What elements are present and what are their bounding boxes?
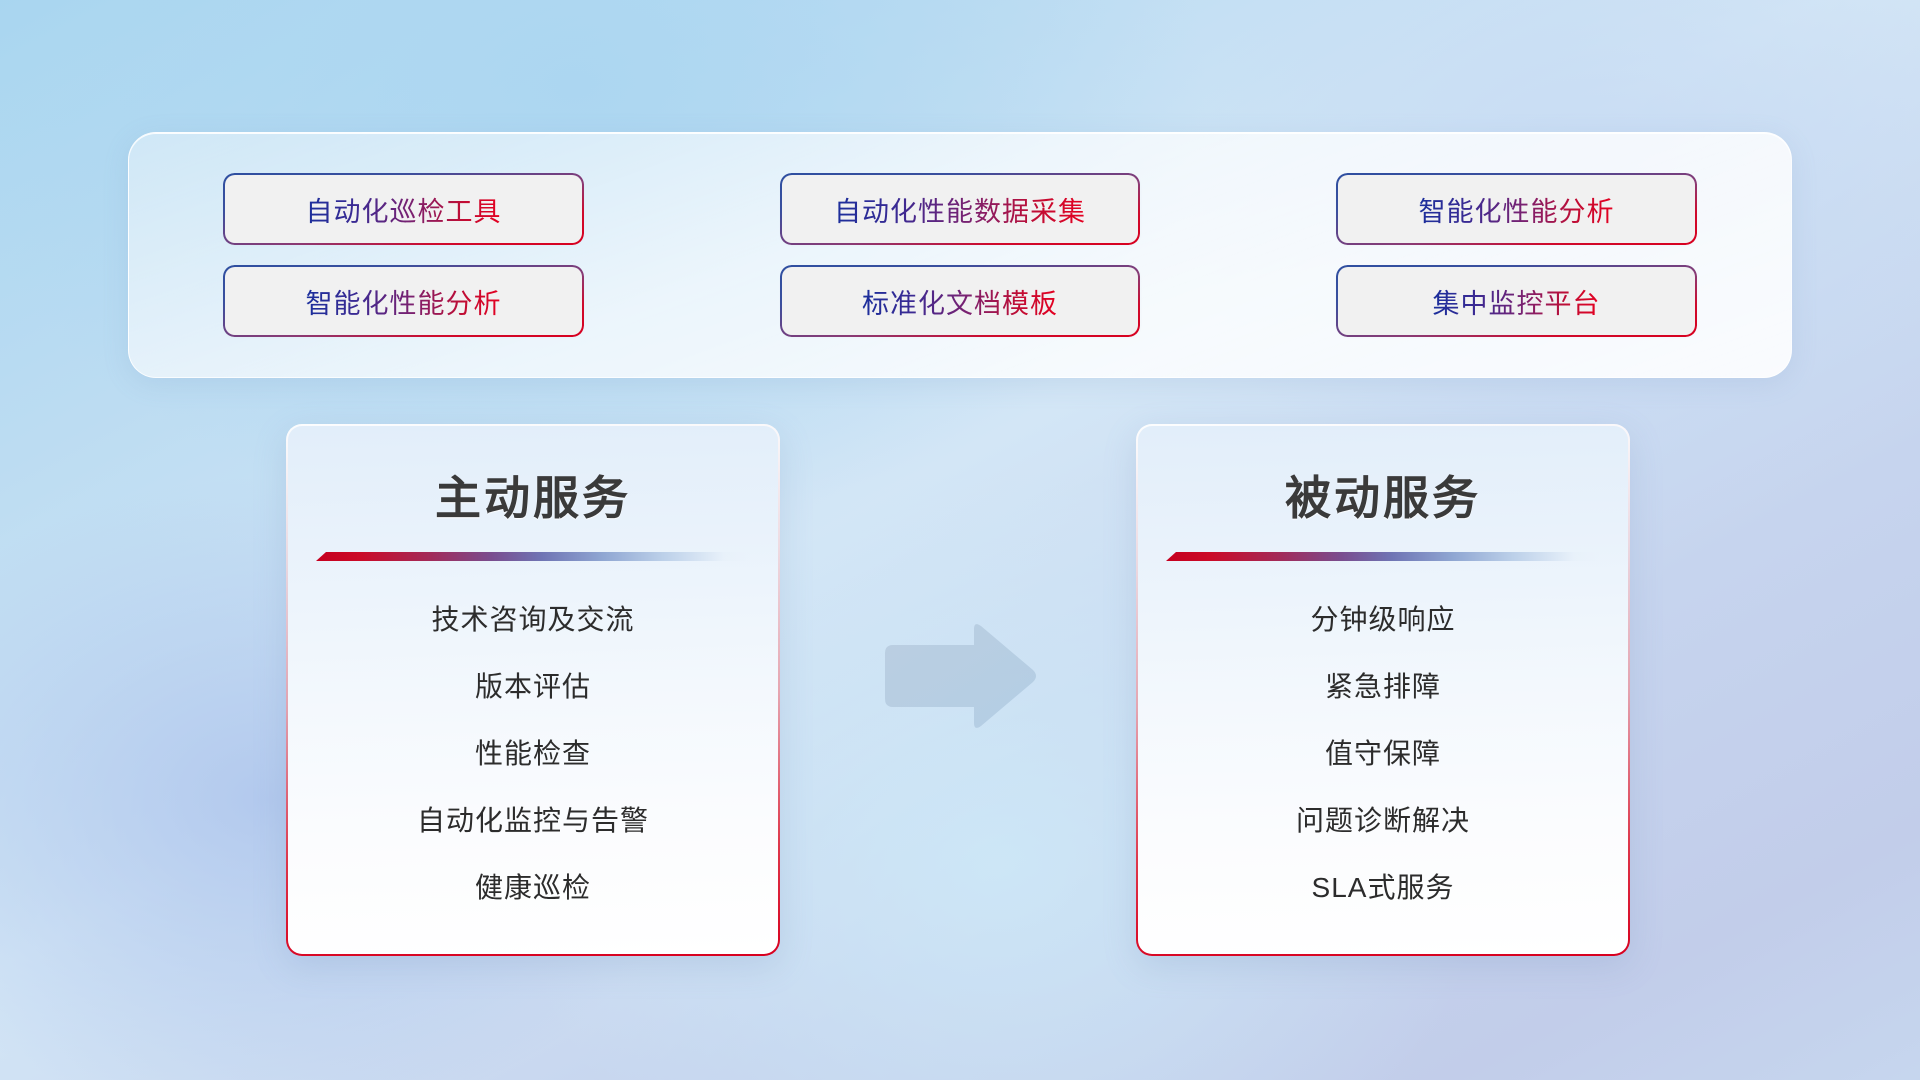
capability-tag[interactable]: 自动化巡检工具 [225,175,582,243]
title-divider [1166,552,1600,561]
arrow-right-icon [879,621,1039,731]
capability-tag[interactable]: 标准化文档模板 [782,267,1139,335]
service-list-item: 自动化监控与告警 [417,799,649,839]
capability-tag-label: 自动化巡检工具 [306,190,502,229]
service-list-item: 健康巡检 [475,866,591,906]
service-card-title: 主动服务 [435,462,631,528]
capability-tag-label: 自动化性能数据采集 [834,190,1086,229]
service-card-title: 被动服务 [1285,462,1481,528]
service-list-item: 版本评估 [475,665,591,705]
service-item-list: 分钟级响应 紧急排障 值守保障 问题诊断解决 SLA式服务 [1138,598,1628,906]
service-item-list: 技术咨询及交流 版本评估 性能检查 自动化监控与告警 健康巡检 [288,598,778,906]
capability-tag[interactable]: 智能化性能分析 [1338,175,1695,243]
title-divider [316,552,750,561]
service-card-reactive[interactable]: 被动服务 分钟级响应 紧急排障 值守保障 问题诊断解决 SLA式服务 [1136,424,1630,956]
capability-tag-label: 标准化文档模板 [862,282,1058,321]
service-card-proactive[interactable]: 主动服务 技术咨询及交流 版本评估 性能检查 自动化监控与告警 健康巡检 [286,424,780,956]
service-card-body: 被动服务 分钟级响应 紧急排障 值守保障 问题诊断解决 SLA式服务 [1138,426,1628,954]
capability-tag[interactable]: 集中监控平台 [1338,267,1695,335]
capability-tag-label: 智能化性能分析 [1419,190,1615,229]
service-list-item: 值守保障 [1325,732,1441,772]
capability-tag-row-1: 自动化巡检工具 自动化性能数据采集 智能化性能分析 [225,175,1695,243]
service-card-body: 主动服务 技术咨询及交流 版本评估 性能检查 自动化监控与告警 健康巡检 [288,426,778,954]
service-list-item: 紧急排障 [1325,665,1441,705]
service-list-item: 问题诊断解决 [1296,799,1470,839]
capability-tag-label: 智能化性能分析 [306,282,502,321]
title-divider-wrap [1138,552,1628,564]
service-list-item: 分钟级响应 [1310,598,1455,638]
capability-tag[interactable]: 自动化性能数据采集 [782,175,1139,243]
service-list-item: 性能检查 [475,732,591,772]
capability-tag-row-2: 智能化性能分析 标准化文档模板 集中监控平台 [225,267,1695,335]
capabilities-panel: 自动化巡检工具 自动化性能数据采集 智能化性能分析 智能化性能分析 标准化文档模… [128,132,1792,378]
slide-canvas: 自动化巡检工具 自动化性能数据采集 智能化性能分析 智能化性能分析 标准化文档模… [0,0,1920,1080]
title-divider-wrap [288,552,778,564]
capability-tag-label: 集中监控平台 [1433,282,1601,321]
service-list-item: SLA式服务 [1312,866,1455,906]
capability-tag[interactable]: 智能化性能分析 [225,267,582,335]
service-list-item: 技术咨询及交流 [431,598,634,638]
